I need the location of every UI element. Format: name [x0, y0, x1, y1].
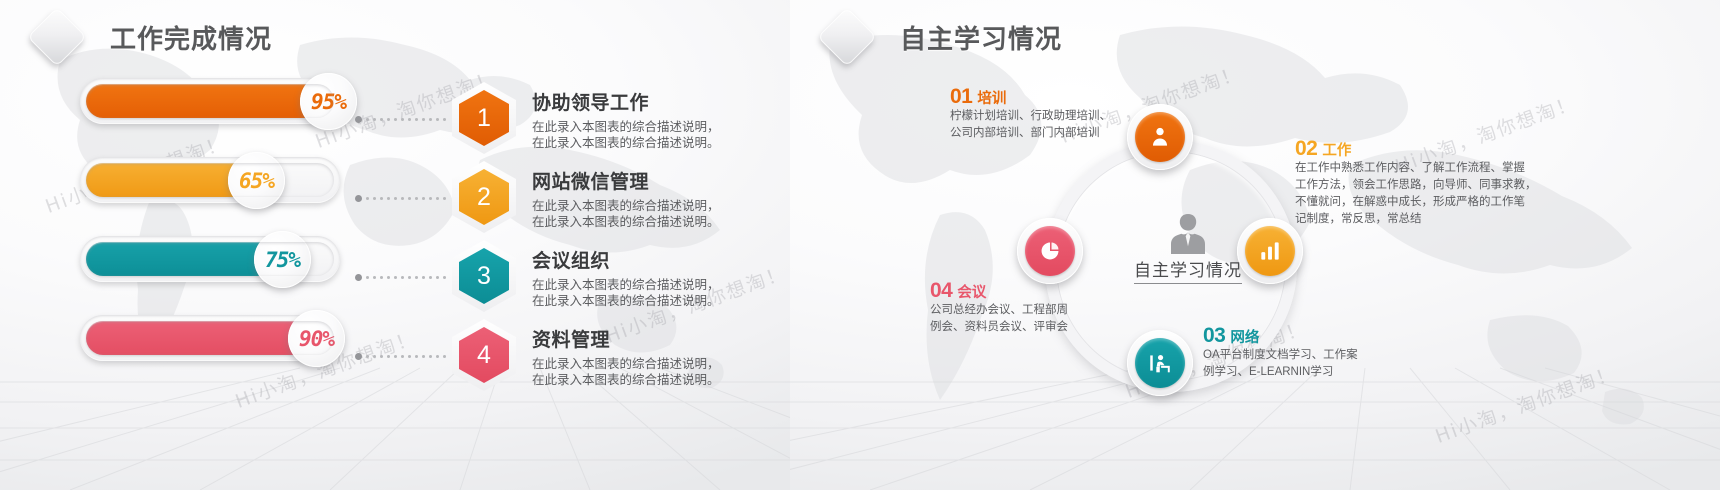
blurb-heading: 01培训: [950, 86, 1215, 107]
item-desc-line-1: 在此录入本图表的综合描述说明，: [532, 119, 782, 135]
progress-track-3[interactable]: 75%: [80, 236, 340, 282]
item-heading: 协助领导工作: [532, 88, 782, 115]
person-at-desk-icon: [1147, 350, 1173, 376]
page-title: 自主学习情况: [900, 19, 1062, 56]
list-item: 资料管理 在此录入本图表的综合描述说明， 在此录入本图表的综合描述说明。: [532, 325, 782, 388]
blurb-line: 例会、资料员会议、评审会: [930, 320, 1195, 335]
progress-row: 65%: [80, 157, 350, 214]
page-title: 工作完成情况: [110, 19, 272, 56]
person-avatar-icon: [1165, 210, 1211, 254]
hex-number-label: 4: [477, 341, 491, 370]
progress-value-knob-2[interactable]: 65%: [228, 152, 285, 209]
item-desc-line-2: 在此录入本图表的综合描述说明。: [532, 214, 782, 230]
item-heading: 会议组织: [532, 246, 782, 273]
progress-fill-2: [86, 163, 256, 197]
blurb-02: 02工作 在工作中熟悉工作内容、了解工作流程、掌握 工作方法，领会工作思路，向导…: [1295, 138, 1580, 227]
blurb-name: 工作: [1322, 143, 1351, 159]
progress-row: 95%: [80, 78, 350, 135]
diamond-bullet-icon: [817, 7, 876, 66]
blurb-line: 公司内部培训、部门内部培训: [950, 126, 1215, 141]
node-core: [1135, 338, 1185, 388]
progress-value-knob-4[interactable]: 90%: [288, 310, 345, 367]
cycle-center: 自主学习情况: [1108, 210, 1268, 284]
hex-badge-2[interactable]: 2: [452, 161, 516, 233]
pie-chart-icon: [1037, 238, 1063, 264]
blurb-heading: 03网络: [1203, 325, 1468, 346]
progress-fill-3: [86, 242, 282, 276]
progress-percent-label: 90%: [299, 327, 334, 351]
slide-deck: Hi小淘，淘你想淘！ Hi小淘，淘你想淘！ Hi小淘，淘你想淘！ Hi小淘，淘你…: [0, 0, 1720, 490]
blurb-line: 柠檬计划培训、行政助理培训、: [950, 109, 1215, 124]
progress-track-1[interactable]: 95%: [80, 78, 340, 124]
item-desc-line-2: 在此录入本图表的综合描述说明。: [532, 372, 782, 388]
blurb-number: 01: [950, 85, 972, 108]
hex-badge-1[interactable]: 1: [452, 82, 516, 154]
blurb-number: 03: [1203, 324, 1225, 347]
progress-row: 75%: [80, 236, 350, 293]
blurb-line: 公司总经办会议、工程部周: [930, 303, 1195, 318]
item-desc-line-1: 在此录入本图表的综合描述说明，: [532, 356, 782, 372]
progress-fill-1: [86, 84, 332, 118]
progress-value-knob-3[interactable]: 75%: [254, 231, 311, 288]
slide-header: 自主学习情况: [820, 16, 1062, 58]
item-desc-line-2: 在此录入本图表的综合描述说明。: [532, 293, 782, 309]
progress-track-4[interactable]: 90%: [80, 315, 340, 361]
progress-bar-list: 95% 65% 75%: [80, 78, 350, 394]
list-item: 网站微信管理 在此录入本图表的综合描述说明， 在此录入本图表的综合描述说明。: [532, 167, 782, 230]
item-desc-line-1: 在此录入本图表的综合描述说明，: [532, 198, 782, 214]
item-desc-line-1: 在此录入本图表的综合描述说明，: [532, 277, 782, 293]
progress-percent-label: 95%: [311, 90, 346, 114]
hex-badge-4[interactable]: 4: [452, 319, 516, 391]
blurb-line: 例学习、E-LEARNIN学习: [1203, 365, 1468, 380]
blurb-03: 03网络 OA平台制度文档学习、工作案 例学习、E-LEARNIN学习: [1203, 325, 1468, 380]
hex-number-label: 2: [477, 183, 491, 212]
connector-dots-3: [355, 276, 450, 279]
blurb-name: 培训: [977, 91, 1006, 107]
blurb-line: 工作方法，领会工作思路，向导师、同事求教，: [1295, 178, 1580, 193]
slide-self-study: Hi小淘，淘你想淘！ Hi小淘，淘你想淘！ Hi小淘，淘你想淘！ Hi小淘，淘你…: [790, 0, 1720, 490]
blurb-line: 记制度，常反思，常总结: [1295, 212, 1580, 227]
blurb-line: 不懂就问，在解惑中成长，形成严格的工作笔: [1295, 195, 1580, 210]
blurb-name: 网络: [1230, 330, 1259, 346]
item-desc-line-2: 在此录入本图表的综合描述说明。: [532, 135, 782, 151]
cycle-node-03[interactable]: [1127, 330, 1193, 396]
hex-badge-3[interactable]: 3: [452, 240, 516, 312]
progress-value-knob-1[interactable]: 95%: [300, 73, 357, 130]
slide-header: 工作完成情况: [30, 16, 272, 58]
hex-number-label: 3: [477, 262, 491, 291]
list-item: 协助领导工作 在此录入本图表的综合描述说明， 在此录入本图表的综合描述说明。: [532, 88, 782, 151]
blurb-heading: 02工作: [1295, 138, 1580, 159]
progress-track-2[interactable]: 65%: [80, 157, 340, 203]
blurb-04: 04会议 公司总经办会议、工程部周 例会、资料员会议、评审会: [930, 280, 1195, 335]
list-item: 会议组织 在此录入本图表的综合描述说明， 在此录入本图表的综合描述说明。: [532, 246, 782, 309]
connector-dots-4: [355, 355, 450, 358]
connector-dots-1: [355, 118, 450, 121]
blurb-number: 04: [930, 279, 952, 302]
progress-row: 90%: [80, 315, 350, 372]
item-heading: 网站微信管理: [532, 167, 782, 194]
progress-percent-label: 75%: [265, 248, 300, 272]
progress-fill-4: [86, 321, 320, 355]
progress-percent-label: 65%: [239, 169, 274, 193]
blurb-line: 在工作中熟悉工作内容、了解工作流程、掌握: [1295, 161, 1580, 176]
blurb-line: OA平台制度文档学习、工作案: [1203, 348, 1468, 363]
connector-dots-2: [355, 197, 450, 200]
cycle-node-04[interactable]: [1017, 218, 1083, 284]
blurb-01: 01培训 柠檬计划培训、行政助理培训、 公司内部培训、部门内部培训: [950, 86, 1215, 141]
blurb-name: 会议: [957, 285, 986, 301]
hex-number-label: 1: [477, 104, 491, 133]
blurb-heading: 04会议: [930, 280, 1195, 301]
item-heading: 资料管理: [532, 325, 782, 352]
node-core: [1025, 226, 1075, 276]
slide-work-completion: Hi小淘，淘你想淘！ Hi小淘，淘你想淘！ Hi小淘，淘你想淘！ Hi小淘，淘你…: [0, 0, 790, 490]
blurb-number: 02: [1295, 137, 1317, 160]
diamond-bullet-icon: [27, 7, 86, 66]
